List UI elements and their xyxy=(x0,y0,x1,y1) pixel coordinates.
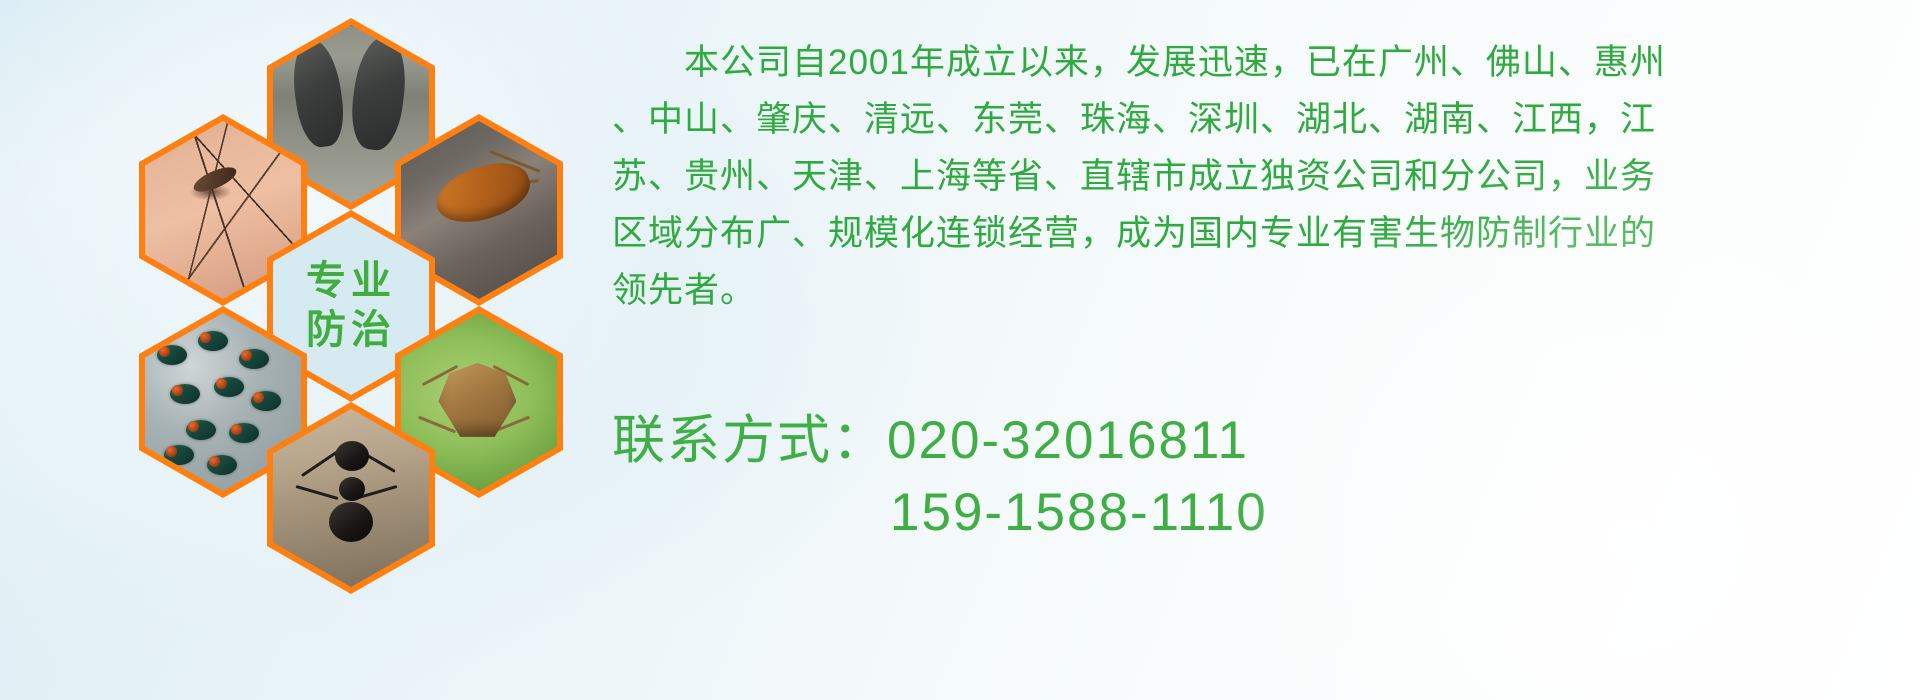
logo-slogan: 专业 防治 xyxy=(306,257,396,355)
flies-photo-detail xyxy=(214,377,244,397)
ant-photo-detail xyxy=(335,441,369,471)
company-intro-paragraph: 本公司自2001年成立以来，发展迅速，已在广州、佛山、惠州 、中山、肇庆、清远、… xyxy=(612,34,1902,319)
intro-line: 苏、贵州、天津、上海等省、直辖市成立独资公司和分公司，业务 xyxy=(612,148,1902,205)
flies-photo-detail xyxy=(198,331,228,351)
logo-slogan-line-1: 专业 xyxy=(306,257,396,306)
intro-line: 领先者。 xyxy=(612,262,1902,319)
ant-photo-detail xyxy=(339,477,365,501)
flies-photo-detail xyxy=(239,349,269,369)
contact-block: 联系方式：020-32016811 159-1588-1110 xyxy=(612,405,1902,549)
contact-phone-mobile[interactable]: 159-1588-1110 xyxy=(612,477,1902,549)
rats-photo-detail xyxy=(283,25,422,40)
flies-photo-detail xyxy=(207,455,237,475)
contact-phone-primary[interactable]: 联系方式：020-32016811 xyxy=(612,405,1902,477)
ant-photo-detail xyxy=(295,485,338,500)
flies-photo-detail xyxy=(229,423,259,443)
flies-photo-detail xyxy=(164,445,194,465)
intro-line: 区域分布广、规模化连锁经营，成为国内专业有害生物防制行业的 xyxy=(612,205,1902,262)
hex-cell-ant-frame xyxy=(273,409,429,587)
intro-line: 、中山、肇庆、清远、东莞、珠海、深圳、湖北、湖南、江西，江 xyxy=(612,91,1902,148)
honeycomb-logo-cluster: 专业 防治 xyxy=(95,10,595,570)
flies-photo-detail xyxy=(157,345,187,365)
flies-photo-detail xyxy=(170,384,200,404)
ant-photo xyxy=(273,409,429,587)
ant-photo-detail xyxy=(301,450,339,477)
rats-photo-detail xyxy=(347,33,411,152)
logo-slogan-line-2: 防治 xyxy=(306,306,396,355)
flies-photo-detail xyxy=(186,420,216,440)
promo-banner: 专业 防治 xyxy=(0,0,1920,700)
intro-line: 本公司自2001年成立以来，发展迅速，已在广州、佛山、惠州 xyxy=(612,34,1902,91)
ant-photo-detail xyxy=(329,502,373,542)
flies-photo-detail xyxy=(251,391,281,411)
rats-photo-detail xyxy=(288,37,349,150)
